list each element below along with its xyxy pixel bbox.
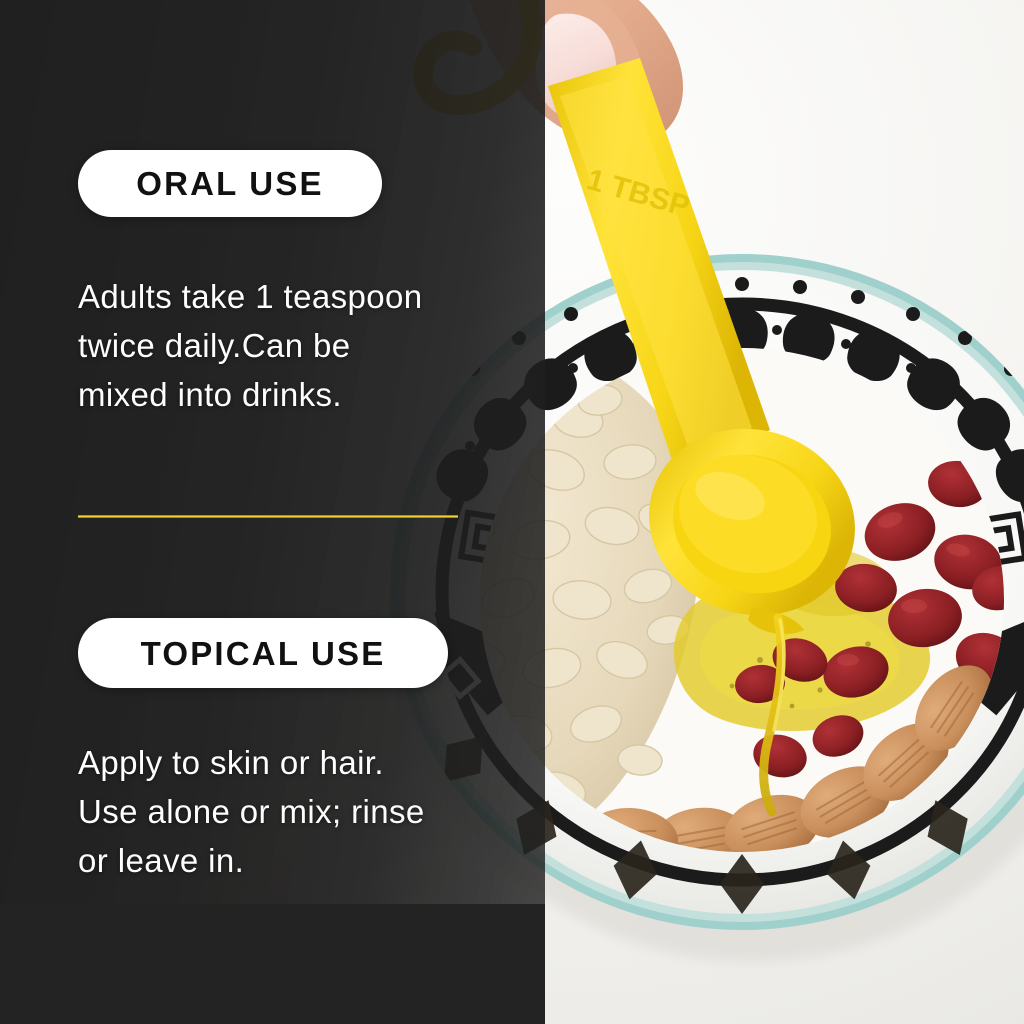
oral-use-badge: ORAL USE — [78, 150, 382, 217]
topical-use-label: TOPICAL USE — [141, 637, 386, 670]
topical-use-badge: TOPICAL USE — [78, 618, 448, 688]
section-divider — [78, 515, 458, 518]
oral-use-instructions: Adults take 1 teaspoon twice daily.Can b… — [78, 272, 528, 419]
promo-graphic: 1 TBSP ORAL USE Adults take 1 — [0, 0, 1024, 1024]
topical-use-instructions: Apply to skin or hair. Use alone or mix;… — [78, 738, 538, 885]
oral-use-label: ORAL USE — [136, 167, 324, 200]
text-panel: ORAL USE Adults take 1 teaspoon twice da… — [0, 0, 545, 1024]
